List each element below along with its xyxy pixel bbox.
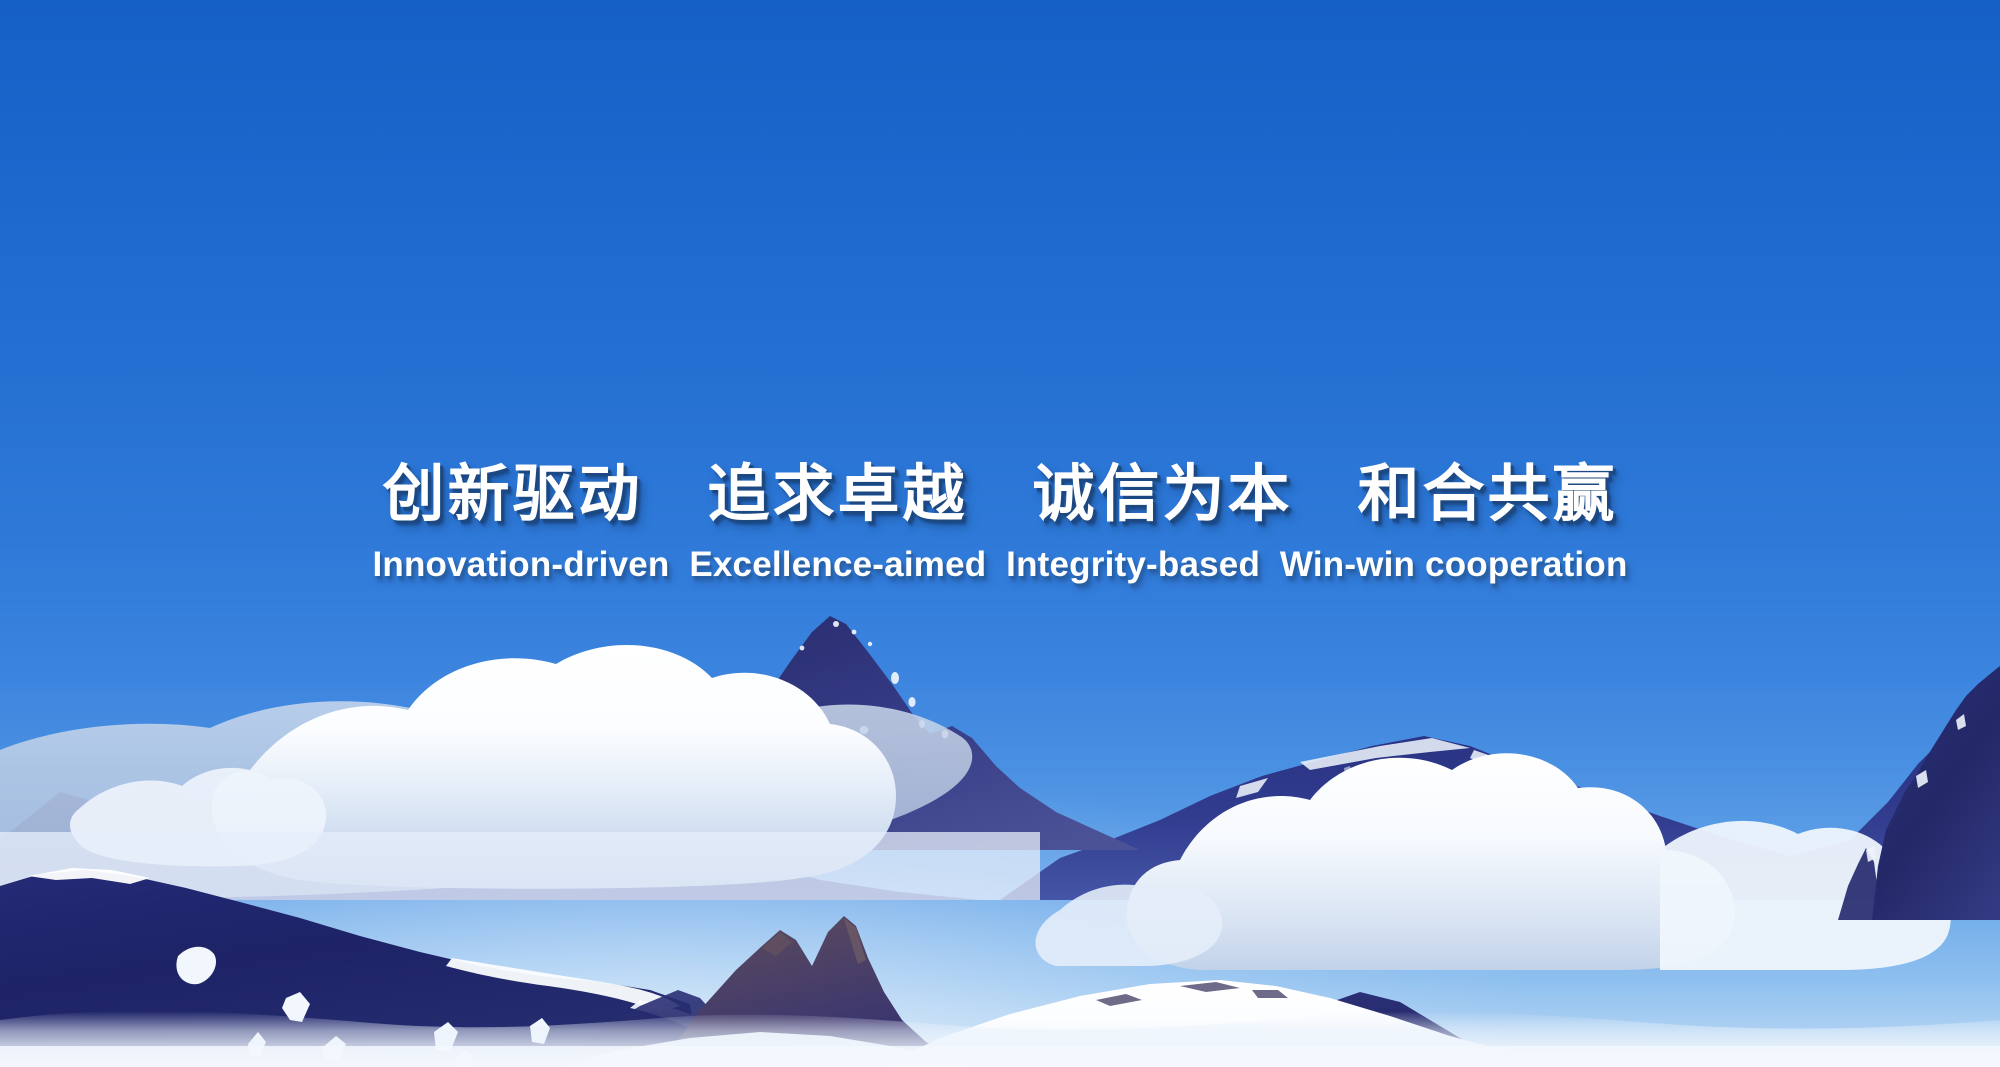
- slogan-block: 创新驱动 追求卓越 诚信为本 和合共赢 Innovation-driven Ex…: [0, 452, 2000, 585]
- chinese-slogan: 创新驱动 追求卓越 诚信为本 和合共赢: [0, 452, 2000, 538]
- horizon-haze: [0, 560, 2000, 1067]
- english-slogan: Innovation-driven Excellence-aimed Integ…: [0, 545, 2000, 585]
- banner-stage: 创新驱动 追求卓越 诚信为本 和合共赢 Innovation-driven Ex…: [0, 0, 2000, 1067]
